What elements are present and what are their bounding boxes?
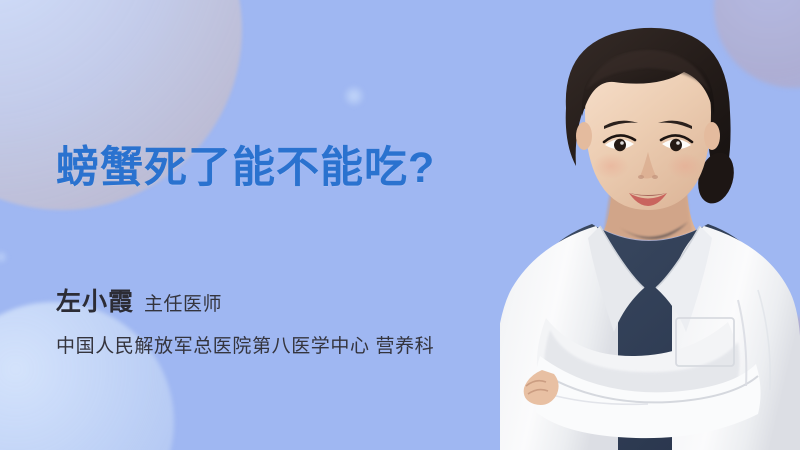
doctor-name: 左小霞 — [56, 282, 134, 318]
doctor-affiliation: 中国人民解放军总医院第八医学中心 营养科 — [56, 331, 434, 358]
doctor-professional-title: 主任医师 — [144, 289, 222, 316]
page-title: 螃蟹死了能不能吃? — [56, 146, 435, 191]
doctor-portrait — [500, 0, 800, 450]
doctor-name-row: 左小霞 主任医师 — [56, 282, 222, 318]
dot-decoration-left — [0, 250, 8, 264]
text-content: 螃蟹死了能不能吃? 左小霞 主任医师 中国人民解放军总医院第八医学中心 营养科 — [56, 0, 526, 450]
doctor-intro-card: 螃蟹死了能不能吃? 左小霞 主任医师 中国人民解放军总医院第八医学中心 营养科 — [0, 0, 800, 450]
